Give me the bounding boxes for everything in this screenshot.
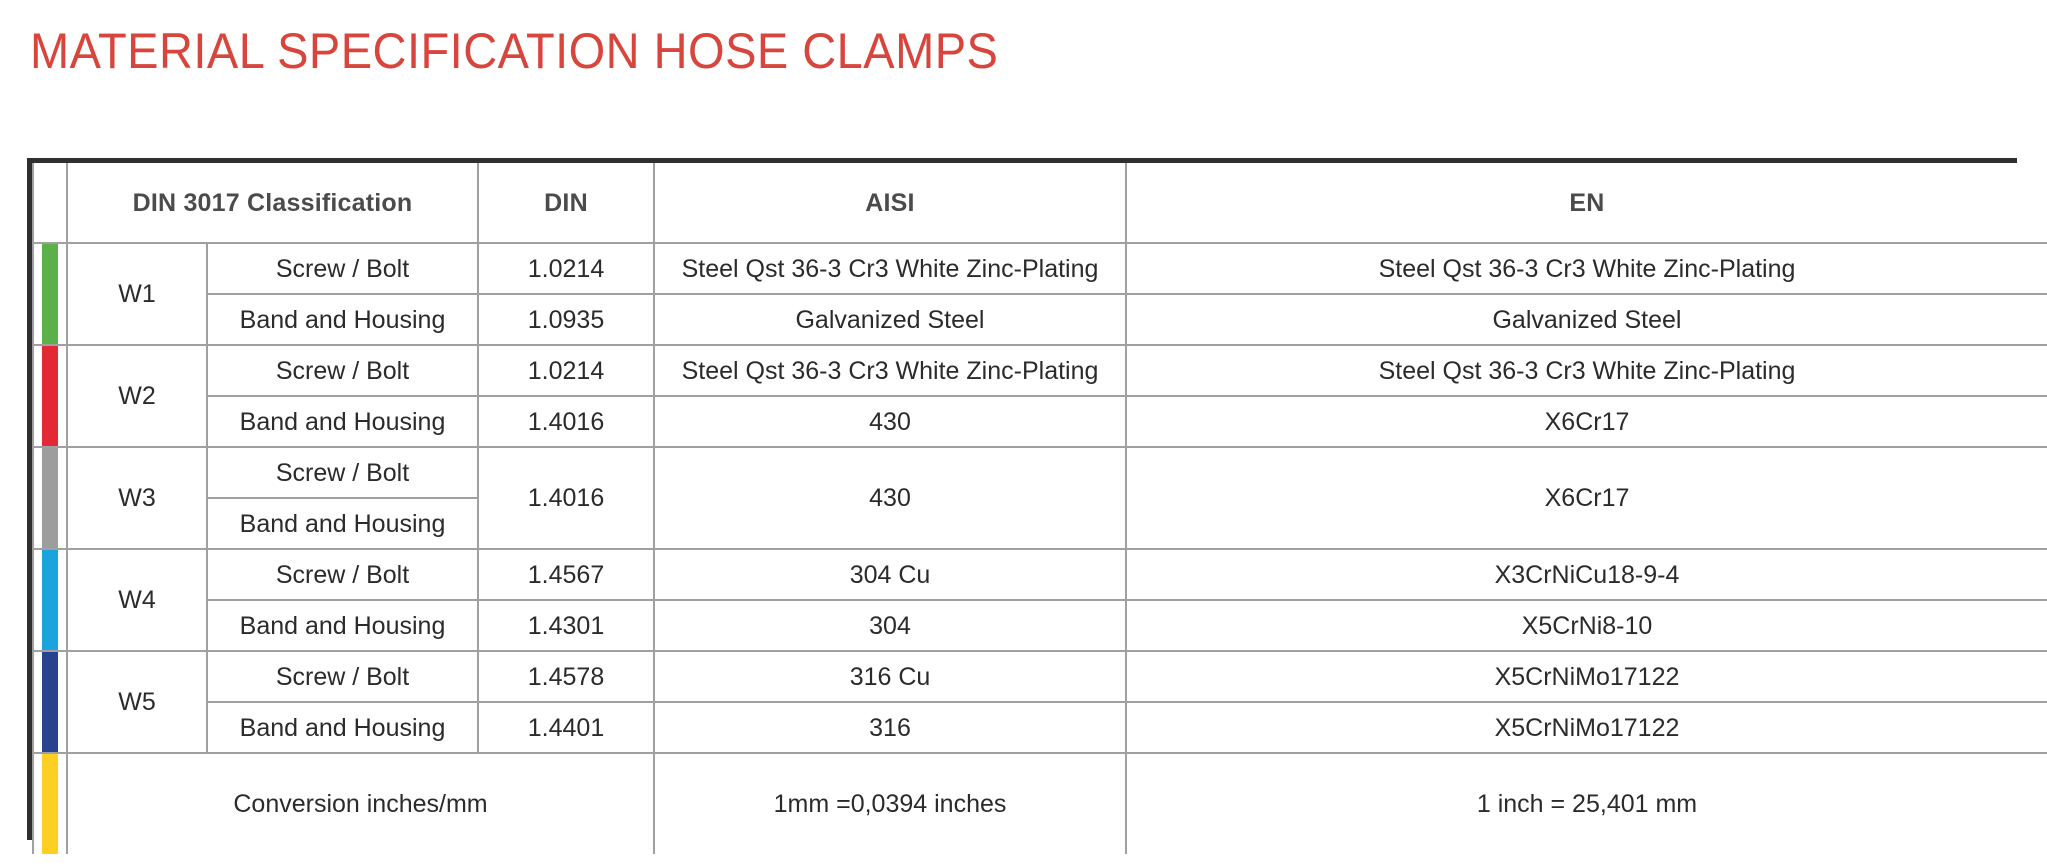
en-value: Galvanized Steel xyxy=(1126,294,2047,345)
din-value: 1.0214 xyxy=(478,345,654,396)
en-value: Steel Qst 36-3 Cr3 White Zinc-Plating xyxy=(1126,243,2047,294)
en-value: X5CrNi8-10 xyxy=(1126,600,2047,651)
swatch-header-spacer xyxy=(33,163,67,243)
group-code-w5: W5 xyxy=(67,651,207,753)
header-classification: DIN 3017 Classification xyxy=(67,163,478,243)
color-swatch-conversion xyxy=(33,753,67,854)
din-value: 1.4301 xyxy=(478,600,654,651)
aisi-value: 430 xyxy=(654,396,1126,447)
aisi-value: Steel Qst 36-3 Cr3 White Zinc-Plating xyxy=(654,243,1126,294)
part-name: Screw / Bolt xyxy=(207,243,478,294)
swatch-fill-w3 xyxy=(42,448,58,548)
table-header-row: DIN 3017 Classification DIN AISI EN xyxy=(33,163,2047,243)
aisi-value: Steel Qst 36-3 Cr3 White Zinc-Plating xyxy=(654,345,1126,396)
en-value: X5CrNiMo17122 xyxy=(1126,651,2047,702)
color-swatch-w2 xyxy=(33,345,67,447)
part-name: Band and Housing xyxy=(207,702,478,753)
color-swatch-w3 xyxy=(33,447,67,549)
table-row: Band and Housing 1.4301 304 X5CrNi8-10 xyxy=(33,600,2047,651)
aisi-value: Galvanized Steel xyxy=(654,294,1126,345)
table-row: Band and Housing 1.0935 Galvanized Steel… xyxy=(33,294,2047,345)
aisi-value: 304 Cu xyxy=(654,549,1126,600)
swatch-fill-conversion xyxy=(42,754,58,854)
conversion-mm-to-inches: 1mm =0,0394 inches xyxy=(654,753,1126,854)
din-value: 1.4567 xyxy=(478,549,654,600)
group-code-w2: W2 xyxy=(67,345,207,447)
part-name: Band and Housing xyxy=(207,498,478,549)
din-value: 1.4016 xyxy=(478,447,654,549)
part-name: Screw / Bolt xyxy=(207,549,478,600)
aisi-value: 430 xyxy=(654,447,1126,549)
en-value: X5CrNiMo17122 xyxy=(1126,702,2047,753)
swatch-fill-w1 xyxy=(42,244,58,344)
conversion-row: Conversion inches/mm 1mm =0,0394 inches … xyxy=(33,753,2047,854)
conversion-label: Conversion inches/mm xyxy=(67,753,654,854)
group-code-w1: W1 xyxy=(67,243,207,345)
din-value: 1.4401 xyxy=(478,702,654,753)
table-row: W5 Screw / Bolt 1.4578 316 Cu X5CrNiMo17… xyxy=(33,651,2047,702)
table-row: Band and Housing 1.4016 430 X6Cr17 xyxy=(33,396,2047,447)
part-name: Screw / Bolt xyxy=(207,345,478,396)
table-body: W1 Screw / Bolt 1.0214 Steel Qst 36-3 Cr… xyxy=(33,243,2047,854)
aisi-value: 304 xyxy=(654,600,1126,651)
din-value: 1.0214 xyxy=(478,243,654,294)
group-code-w3: W3 xyxy=(67,447,207,549)
color-swatch-w1 xyxy=(33,243,67,345)
aisi-value: 316 xyxy=(654,702,1126,753)
part-name: Screw / Bolt xyxy=(207,447,478,498)
page-root: MATERIAL SPECIFICATION HOSE CLAMPS DIN 3… xyxy=(0,0,2047,868)
table-row: W2 Screw / Bolt 1.0214 Steel Qst 36-3 Cr… xyxy=(33,345,2047,396)
en-value: X6Cr17 xyxy=(1126,447,2047,549)
part-name: Band and Housing xyxy=(207,294,478,345)
material-specification-table-wrapper: DIN 3017 Classification DIN AISI EN W1 S… xyxy=(27,158,2017,840)
en-value: X3CrNiCu18-9-4 xyxy=(1126,549,2047,600)
header-en: EN xyxy=(1126,163,2047,243)
din-value: 1.4016 xyxy=(478,396,654,447)
part-name: Band and Housing xyxy=(207,600,478,651)
header-din: DIN xyxy=(478,163,654,243)
table-row: W3 Screw / Bolt 1.4016 430 X6Cr17 xyxy=(33,447,2047,498)
material-specification-table: DIN 3017 Classification DIN AISI EN W1 S… xyxy=(32,163,2047,854)
swatch-fill-w5 xyxy=(42,652,58,752)
din-value: 1.4578 xyxy=(478,651,654,702)
swatch-fill-w4 xyxy=(42,550,58,650)
en-value: X6Cr17 xyxy=(1126,396,2047,447)
table-row: W4 Screw / Bolt 1.4567 304 Cu X3CrNiCu18… xyxy=(33,549,2047,600)
page-title: MATERIAL SPECIFICATION HOSE CLAMPS xyxy=(30,20,998,82)
group-code-w4: W4 xyxy=(67,549,207,651)
swatch-fill-w2 xyxy=(42,346,58,446)
en-value: Steel Qst 36-3 Cr3 White Zinc-Plating xyxy=(1126,345,2047,396)
table-row: Band and Housing 1.4401 316 X5CrNiMo1712… xyxy=(33,702,2047,753)
conversion-inch-to-mm: 1 inch = 25,401 mm xyxy=(1126,753,2047,854)
table-header: DIN 3017 Classification DIN AISI EN xyxy=(33,163,2047,243)
color-swatch-w4 xyxy=(33,549,67,651)
part-name: Screw / Bolt xyxy=(207,651,478,702)
header-aisi: AISI xyxy=(654,163,1126,243)
table-row: W1 Screw / Bolt 1.0214 Steel Qst 36-3 Cr… xyxy=(33,243,2047,294)
part-name: Band and Housing xyxy=(207,396,478,447)
color-swatch-w5 xyxy=(33,651,67,753)
aisi-value: 316 Cu xyxy=(654,651,1126,702)
din-value: 1.0935 xyxy=(478,294,654,345)
